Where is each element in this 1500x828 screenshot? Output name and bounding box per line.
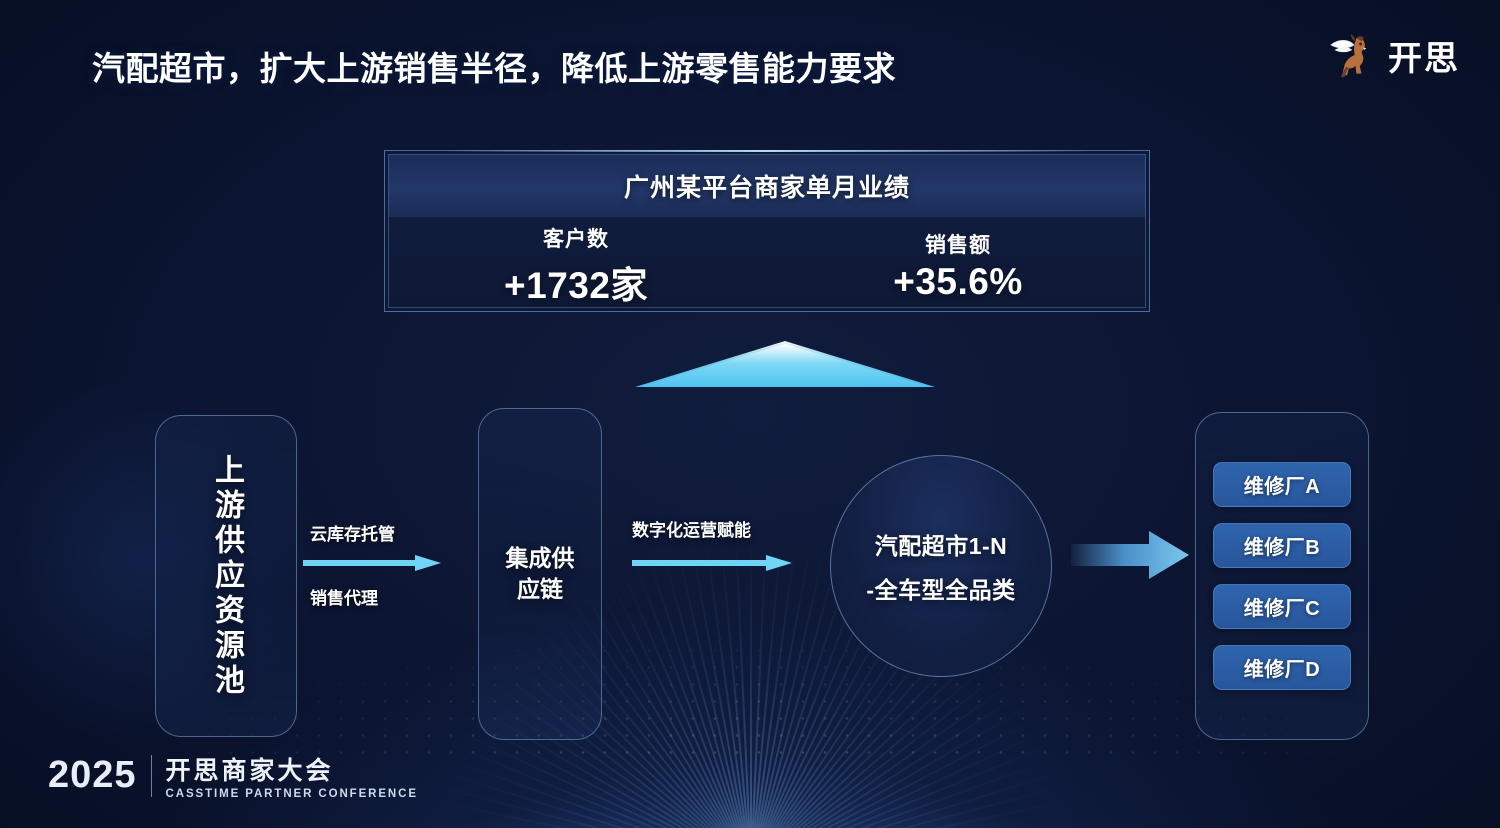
node-integrated-supply-chain: 集成供应链 [478,408,602,740]
stats-panel-header: 广州某平台商家单月业绩 [389,155,1145,217]
background-ray [633,559,752,828]
shop-card-a[interactable]: 维修厂A [1213,462,1351,507]
background-ray [735,538,752,828]
stats-panel-title: 广州某平台商家单月业绩 [624,168,910,204]
background-ray [451,728,751,828]
shop-card-a-label: 维修厂A [1244,470,1320,499]
background-ray [676,546,752,828]
background-ray [720,539,752,828]
block-arrow-right-icon [1071,528,1189,582]
shop-card-d-label: 维修厂D [1244,653,1320,682]
shop-card-d[interactable]: 维修厂D [1213,645,1351,690]
stats-panel-body: 客户数 +1732家 销售额 +35.6% [385,221,1149,311]
stat-customers: 客户数 +1732家 [385,221,767,311]
shop-card-b-label: 维修厂B [1244,531,1320,560]
shop-card-b[interactable]: 维修厂B [1213,523,1351,568]
background-ray [579,585,752,828]
background-ray [431,784,751,828]
stat-sales-value: +35.6% [893,261,1023,303]
node-chain-label: 集成供应链 [479,543,601,605]
stat-customers-label: 客户数 [543,223,609,253]
background-ray [661,550,752,828]
background-ray [592,578,752,828]
up-arrow-icon [632,338,938,390]
footer-name-cn: 开思商家大会 [166,751,418,787]
node-repair-shops: 维修厂A 维修厂B 维修厂C 维修厂D [1195,412,1369,740]
background-ray [751,798,1074,828]
background-ray [705,541,752,828]
background-ray [619,565,752,828]
background-ray [435,769,751,828]
node-auto-parts-supermarket: 汽配超市1-N -全车型全品类 [830,455,1052,677]
background-ray [751,755,1062,828]
background-ray [751,728,1051,828]
stat-sales: 销售额 +35.6% [767,221,1149,311]
footer-text-group: 开思商家大会 CASSTIME PARTNER CONFERENCE [166,751,418,800]
footer-branding: 2025 开思商家大会 CASSTIME PARTNER CONFERENCE [48,751,418,800]
page-title: 汽配超市，扩大上游销售半径，降低上游零售能力要求 [92,42,896,90]
stats-panel: 广州某平台商家单月业绩 客户数 +1732家 销售额 +35.6% [384,150,1150,312]
footer-year: 2025 [48,754,137,797]
background-ray [750,541,797,828]
background-ray [647,554,752,828]
background-ray [750,688,1028,828]
background-ray [428,798,751,828]
background-ray [750,701,1036,828]
background-ray [750,538,767,828]
arrow-right-icon-1 [303,552,441,574]
node-circle-line1: 汽配超市1-N [875,527,1008,561]
background-ray [750,546,826,828]
background-ray [751,741,1057,828]
background-ray [750,664,1011,828]
background-ray [750,676,1020,828]
slide-root: 汽配超市，扩大上游销售半径，降低上游零售能力要求 开思 广州某平台商家单月业绩 … [0,0,1500,828]
brand-logo-text: 开思 [1388,31,1460,80]
arrow2-label-top: 数字化运营赋能 [632,516,751,541]
arrow1-label-bottom: 销售代理 [310,584,378,609]
stat-sales-label: 销售额 [925,229,991,259]
node-circle-line2: -全车型全品类 [866,571,1015,605]
shop-card-c-label: 维修厂C [1244,592,1320,621]
brand-logo: 开思 [1326,28,1460,82]
stat-customers-value: +1732家 [504,255,648,309]
pegasus-horse-icon [1326,28,1380,82]
background-ray [750,652,1002,828]
node-upstream-label: 上游供应资源池 [156,416,296,736]
node-upstream-resource-pool: 上游供应资源池 [155,415,297,737]
footer-divider [151,755,152,797]
background-ray [751,714,1044,828]
background-ray [750,538,752,828]
background-ray [750,543,812,828]
background-ray [751,784,1071,828]
background-ray [690,543,752,828]
arrow1-label-top: 云库存托管 [310,520,395,545]
background-ray [750,550,841,828]
shop-card-c[interactable]: 维修厂C [1213,584,1351,629]
background-ray [446,741,752,828]
background-ray [605,571,751,828]
background-ray [750,539,782,828]
footer-name-en: CASSTIME PARTNER CONFERENCE [166,788,418,800]
background-ray [751,769,1067,828]
background-ray [440,755,751,828]
arrow-right-icon-2 [632,552,792,574]
